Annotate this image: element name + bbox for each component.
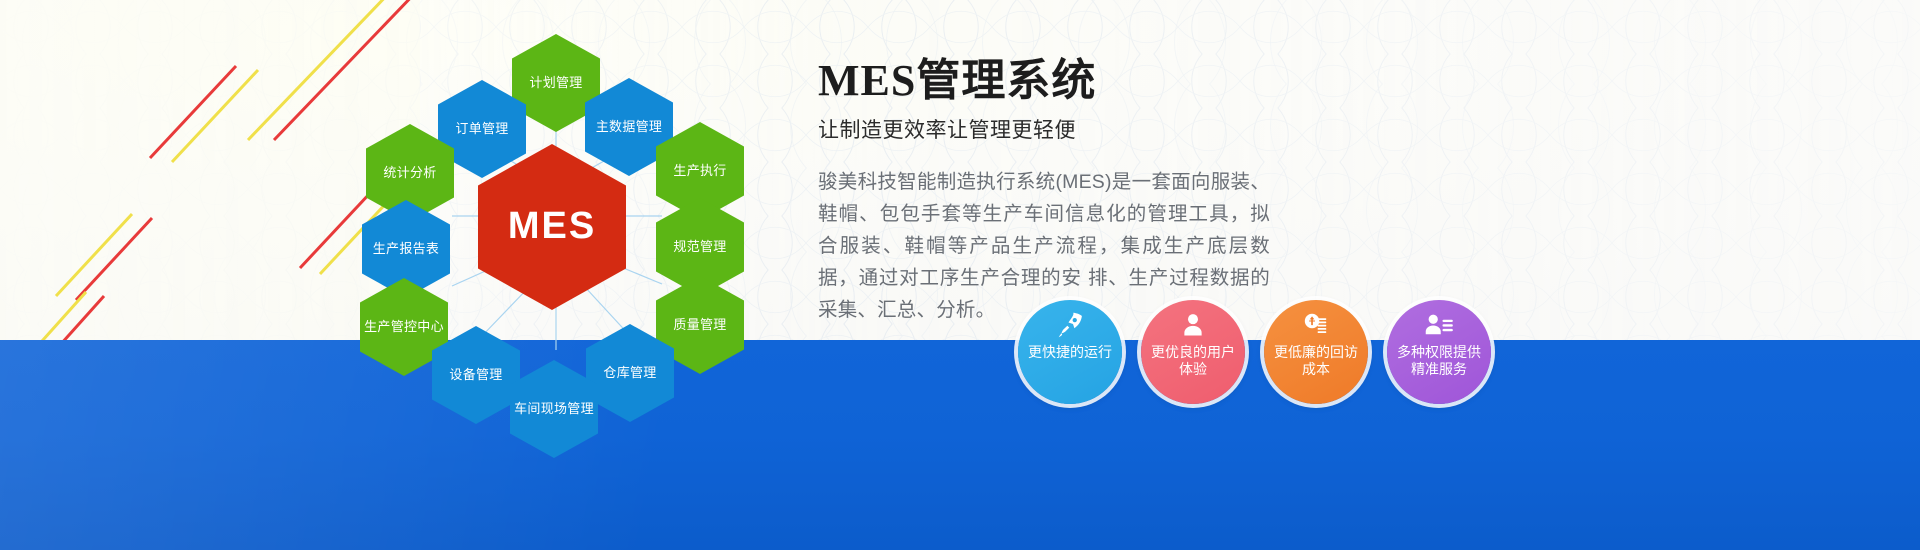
badge-label: 更低廉的回访成本 — [1264, 344, 1368, 378]
hex-label: 主数据管理 — [596, 119, 663, 135]
hex-label: 统计分析 — [383, 165, 436, 181]
banner-root: 计划管理 订单管理 主数据管理 统计分析 生产执行 生产报告表 规范管理 MES… — [0, 0, 1920, 550]
rocket-icon — [1055, 308, 1085, 342]
content-column: MES管理系统 让制造更效率让管理更轻便 骏美科技智能制造执行系统(MES)是一… — [818, 58, 1518, 326]
hex-label: 订单管理 — [455, 121, 508, 137]
badge-label: 多种权限提供精准服务 — [1387, 344, 1491, 378]
hex-label: 生产执行 — [673, 163, 726, 179]
badge-label: 更快捷的运行 — [1019, 344, 1121, 361]
hex-label: 生产管控中心 — [364, 319, 444, 335]
hex-label: 仓库管理 — [603, 365, 656, 381]
hex-label: 设备管理 — [449, 367, 502, 383]
mes-hex-diagram: 计划管理 订单管理 主数据管理 统计分析 生产执行 生产报告表 规范管理 MES… — [330, 20, 790, 450]
feature-badge-better-user-experience[interactable]: 更优良的用户体验 — [1141, 300, 1245, 404]
money-icon — [1302, 308, 1330, 342]
feature-badge-list: 更快捷的运行 更优良的用户体验 — [1018, 300, 1491, 404]
feature-badge-lower-revisit-cost[interactable]: 更低廉的回访成本 — [1264, 300, 1368, 404]
background-bottom-sheen — [0, 340, 1920, 550]
page-subtitle: 让制造更效率让管理更轻便 — [818, 114, 1518, 144]
page-title: MES管理系统 — [818, 58, 1518, 104]
feature-badge-faster-operation[interactable]: 更快捷的运行 — [1018, 300, 1122, 404]
hex-label: 质量管理 — [673, 317, 726, 333]
hex-label: 规范管理 — [673, 239, 726, 255]
hex-center-label: MES — [508, 203, 596, 251]
badge-label: 更优良的用户体验 — [1141, 344, 1245, 378]
feature-badge-multi-permission[interactable]: 多种权限提供精准服务 — [1387, 300, 1491, 404]
hex-label: 计划管理 — [529, 75, 582, 91]
hex-label: 生产报告表 — [373, 241, 440, 257]
hex-label: 车间现场管理 — [514, 401, 594, 417]
permission-icon — [1424, 308, 1454, 342]
user-icon — [1179, 308, 1207, 342]
